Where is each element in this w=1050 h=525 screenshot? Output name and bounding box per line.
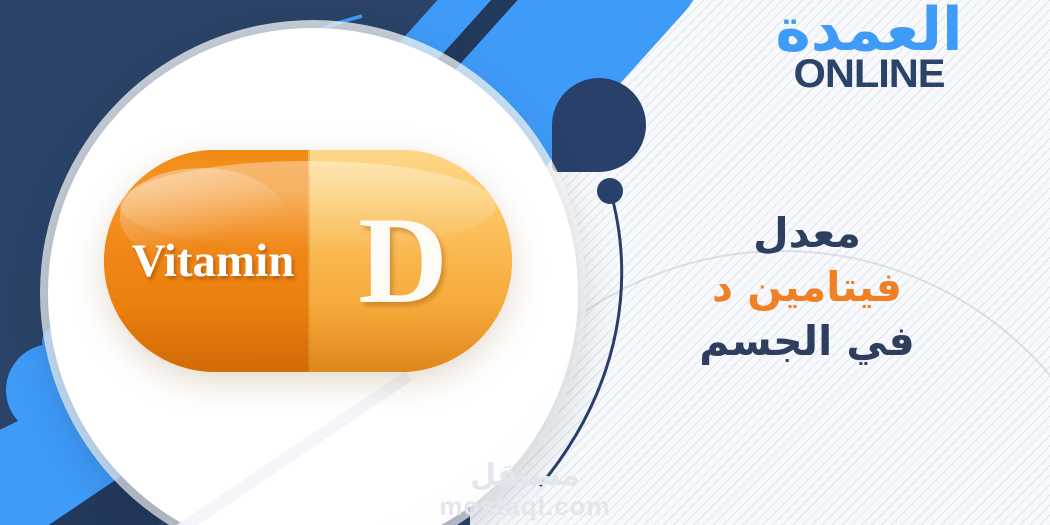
headline-block: معدل فيتامين د في الجسم (642, 206, 972, 368)
capsule-body: Vitamin D (104, 150, 512, 372)
headline-line-3: في الجسم (642, 314, 972, 368)
logo-english-name: ONLINE (756, 54, 983, 94)
headline-line-2: فيتامين د (642, 260, 972, 314)
capsule-vitamin-label: Vitamin (118, 234, 308, 288)
brand-logo[interactable]: العمدة ONLINE (760, 2, 978, 106)
capsule-seam (308, 150, 310, 372)
vitamin-d-capsule: Vitamin D (104, 150, 512, 372)
capsule-d-label: D (316, 199, 490, 323)
headline-line-1: معدل (642, 206, 972, 260)
poster-canvas: Vitamin D العمدة ONLINE معدل فيتامين د ف… (0, 0, 1050, 525)
decorative-navy-teardrop (552, 78, 646, 172)
